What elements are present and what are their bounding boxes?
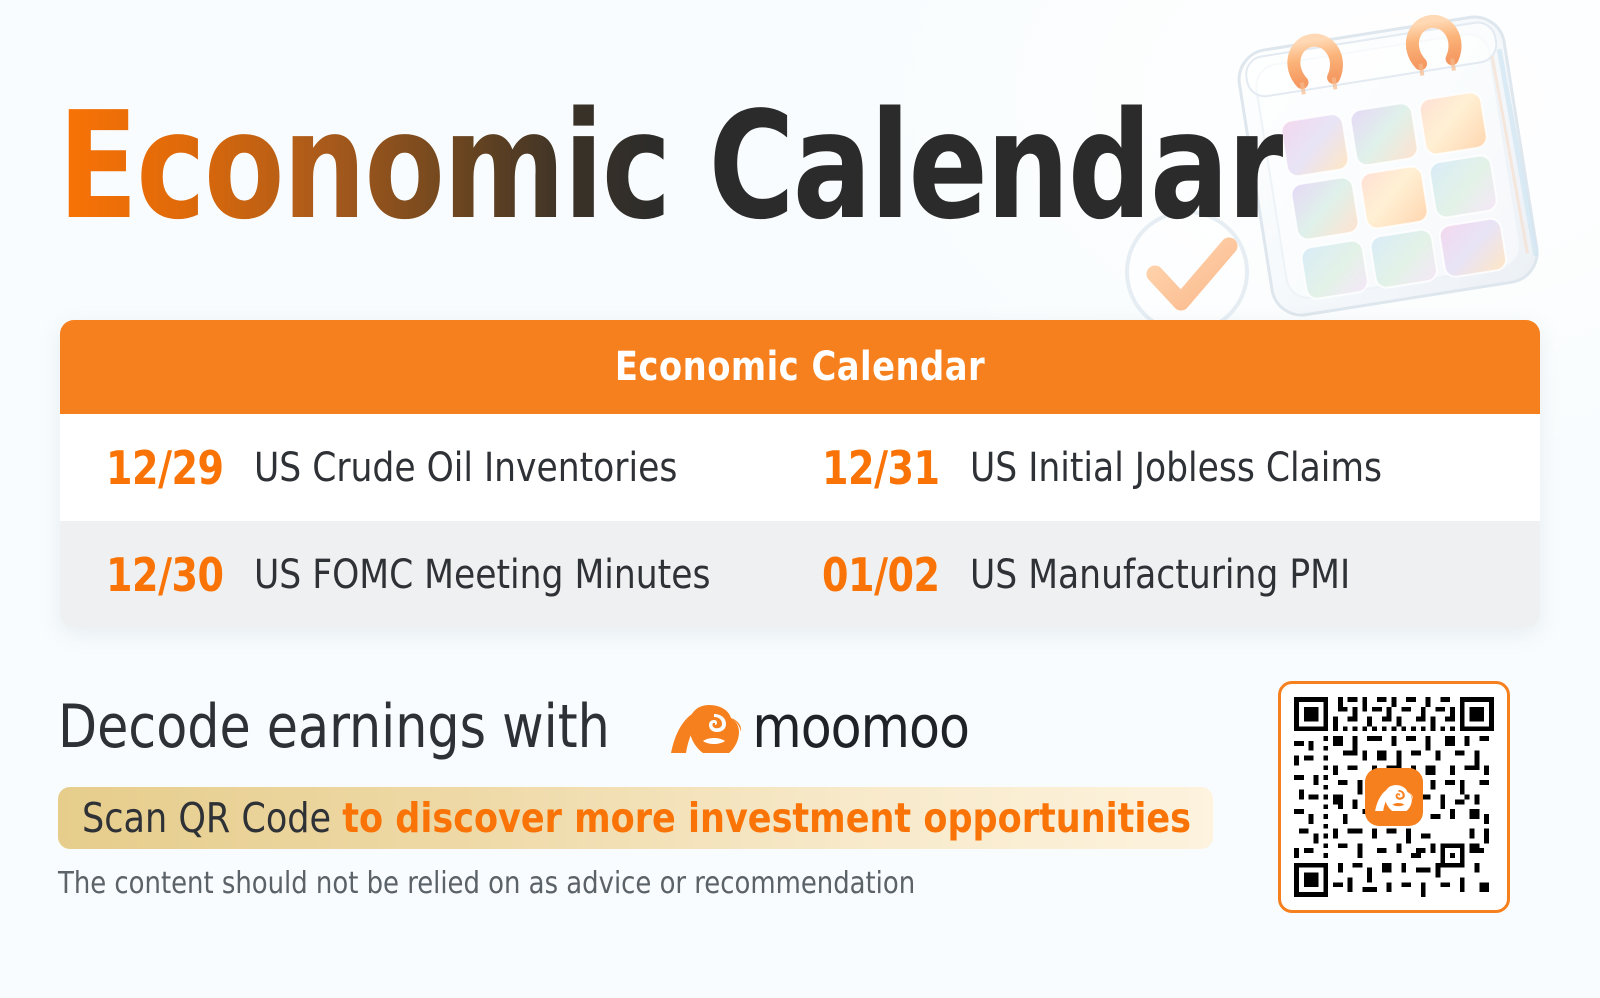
disclaimer-text: The content should not be relied on as a… bbox=[58, 866, 915, 901]
entry-date: 12/29 bbox=[106, 441, 242, 495]
moomoo-bull-icon bbox=[669, 699, 743, 755]
calendar-entry[interactable]: 12/29 US Crude Oil Inventories bbox=[60, 414, 800, 521]
entry-date: 12/30 bbox=[106, 548, 242, 602]
scan-qr-prefix: Scan QR Code bbox=[82, 794, 342, 842]
calendar-entry[interactable]: 01/02 US Manufacturing PMI bbox=[800, 521, 1540, 628]
poster-canvas: Economic Calendar Economic Calendar 12/2… bbox=[0, 0, 1600, 998]
entry-event: US Initial Jobless Claims bbox=[970, 445, 1382, 491]
entry-date: 12/31 bbox=[822, 441, 958, 495]
calendar-entry[interactable]: 12/30 US FOMC Meeting Minutes bbox=[60, 521, 800, 628]
scan-qr-banner: Scan QR Code to discover more investment… bbox=[58, 787, 1213, 849]
scan-qr-accent: to discover more investment opportunitie… bbox=[342, 794, 1191, 842]
entry-event: US Crude Oil Inventories bbox=[254, 445, 677, 491]
qr-code-matrix bbox=[1294, 697, 1494, 897]
moomoo-logo-lockup: moomoo bbox=[669, 693, 972, 761]
moomoo-wordmark: moomoo bbox=[752, 693, 969, 761]
calendar-card-header: Economic Calendar bbox=[60, 320, 1540, 414]
table-row[interactable]: 12/30 US FOMC Meeting Minutes 01/02 US M… bbox=[60, 521, 1540, 628]
scan-qr-banner-text: Scan QR Code to discover more investment… bbox=[82, 794, 1191, 842]
decode-earnings-line: Decode earnings with moomoo bbox=[58, 692, 972, 762]
calendar-card-header-title: Economic Calendar bbox=[615, 344, 985, 390]
qr-code[interactable] bbox=[1278, 681, 1510, 913]
page-title: Economic Calendar bbox=[58, 92, 1283, 240]
calendar-entry[interactable]: 12/31 US Initial Jobless Claims bbox=[800, 414, 1540, 521]
table-row[interactable]: 12/29 US Crude Oil Inventories 12/31 US … bbox=[60, 414, 1540, 521]
moomoo-bull-icon bbox=[1374, 781, 1414, 813]
entry-event: US Manufacturing PMI bbox=[970, 552, 1350, 598]
decode-earnings-text: Decode earnings with bbox=[58, 692, 610, 762]
qr-center-logo bbox=[1365, 768, 1423, 826]
entry-event: US FOMC Meeting Minutes bbox=[254, 552, 710, 598]
economic-calendar-card: Economic Calendar 12/29 US Crude Oil Inv… bbox=[60, 320, 1540, 628]
entry-date: 01/02 bbox=[822, 548, 958, 602]
